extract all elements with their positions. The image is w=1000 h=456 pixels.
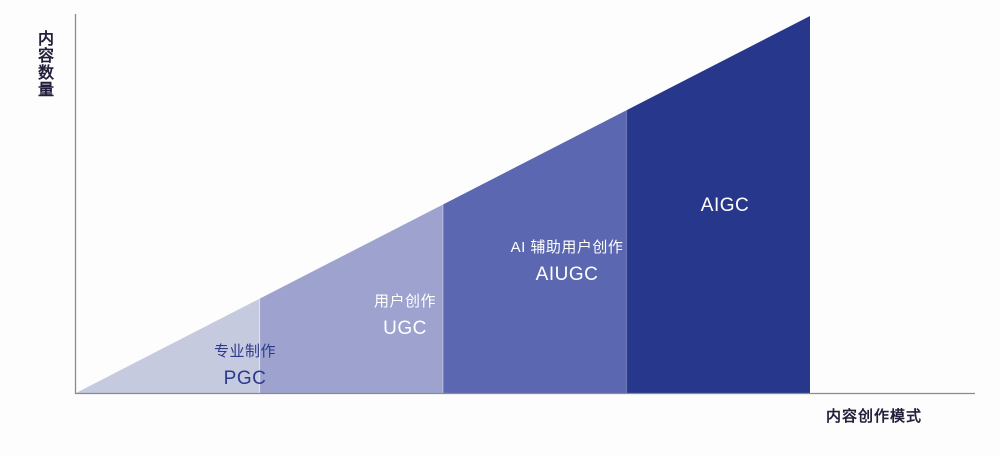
segment-aiugc[interactable] (443, 110, 627, 393)
segment-pgc[interactable] (76, 299, 260, 393)
chart-plot-area: 内容数量 内容创作模式 专业制作 PGC 用户创作 UGC AI 辅助用户创作 … (0, 0, 1000, 456)
x-axis-label: 内容创作模式 (826, 405, 922, 426)
y-axis-label: 内容数量 (28, 30, 54, 98)
ramp-chart-svg (0, 0, 1000, 456)
chart-canvas: 内容数量 内容创作模式 专业制作 PGC 用户创作 UGC AI 辅助用户创作 … (0, 0, 1000, 456)
segment-aigc[interactable] (627, 16, 811, 393)
segment-ugc[interactable] (260, 205, 444, 394)
